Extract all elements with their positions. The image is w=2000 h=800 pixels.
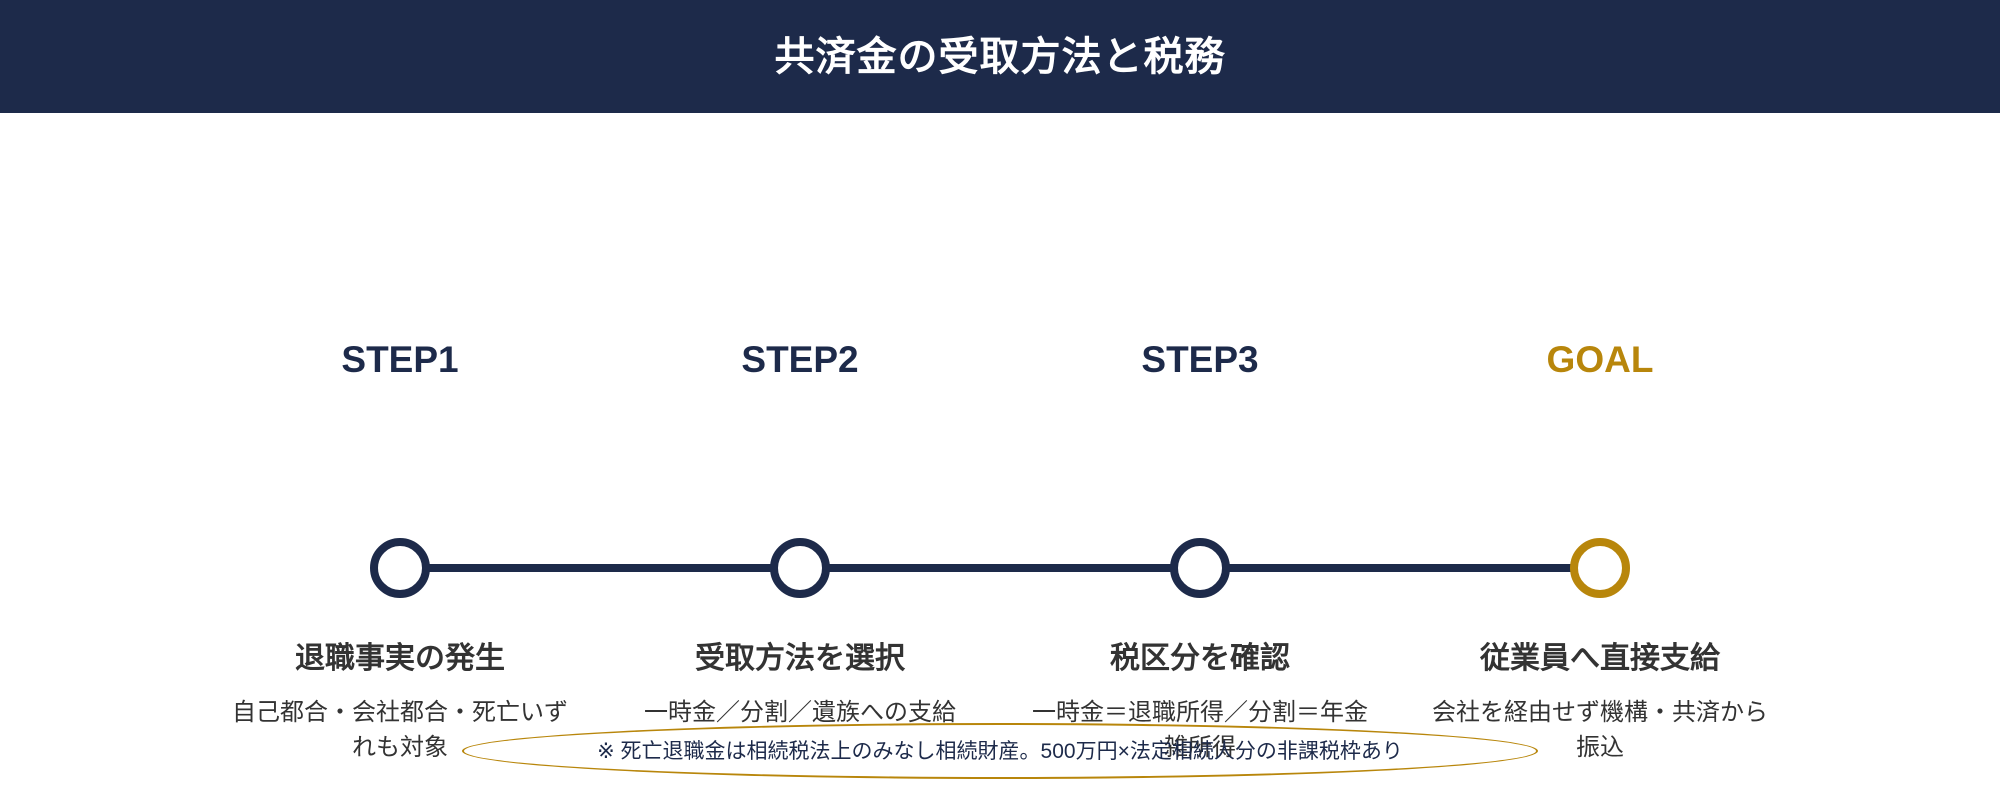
timeline-axis-line xyxy=(400,564,1600,572)
footnote-text: ※ 死亡退職金は相続税法上のみなし相続財産。500万円×法定相続人分の非課税枠あ… xyxy=(462,723,1538,779)
step-label-step3: STEP3 xyxy=(1030,341,1370,378)
node-title-step2: 受取方法を選択 xyxy=(620,641,980,677)
node-title-step3: 税区分を確認 xyxy=(1020,641,1380,677)
step-circle-icon-step3 xyxy=(1170,538,1230,598)
step-label-step2: STEP2 xyxy=(630,341,970,378)
node-title-goal: 従業員へ直接支給 xyxy=(1420,641,1780,677)
timeline: STEP1 退職事実の発生 自己都合・会社都合・死亡いずれも対象 STEP2 受… xyxy=(0,113,2000,800)
node-title-step1: 退職事実の発生 xyxy=(220,641,580,677)
footnote: ※ 死亡退職金は相続税法上のみなし相続財産。500万円×法定相続人分の非課税枠あ… xyxy=(462,723,1538,779)
step-label-goal: GOAL xyxy=(1430,341,1770,378)
goal-circle-icon xyxy=(1570,538,1630,598)
infographic-page: 共済金の受取方法と税務 STEP1 退職事実の発生 自己都合・会社都合・死亡いず… xyxy=(0,0,2000,800)
step-circle-icon-step1 xyxy=(370,538,430,598)
page-title: 共済金の受取方法と税務 xyxy=(775,37,1226,77)
step-circle-icon-step2 xyxy=(770,538,830,598)
header-bar: 共済金の受取方法と税務 xyxy=(0,0,2000,113)
step-label-step1: STEP1 xyxy=(230,341,570,378)
